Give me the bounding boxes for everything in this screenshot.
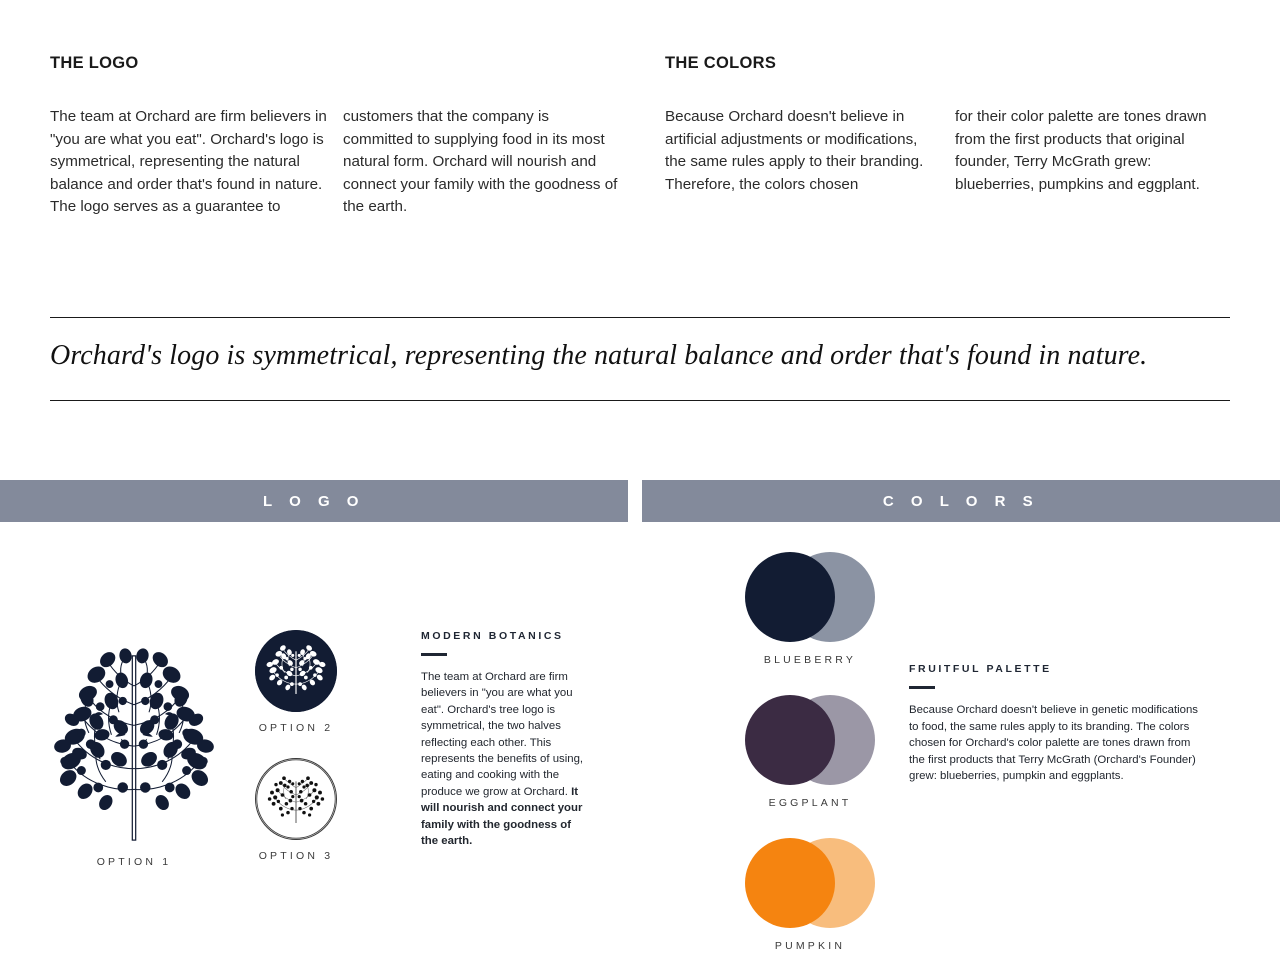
fruitful-palette-block: FRUITFUL PALETTE Because Orchard doesn't…: [909, 663, 1201, 785]
tree-logo-filled-badge-icon: [255, 630, 337, 712]
logo-option-3-label: OPTION 3: [255, 850, 337, 862]
colors-section-heading: THE COLORS: [665, 54, 776, 73]
logo-band-header: L O G O: [0, 480, 628, 522]
blueberry-label: BLUEBERRY: [710, 654, 910, 666]
colors-intro-paragraph-2: for their color palette are tones drawn …: [955, 106, 1217, 196]
logo-intro-paragraph-1: The team at Orchard are firm believers i…: [50, 106, 330, 219]
modern-botanics-rule: [421, 653, 447, 656]
logo-option-3[interactable]: OPTION 3: [255, 758, 337, 862]
tree-logo-outline-badge-icon: [255, 758, 337, 840]
logo-option-1[interactable]: OPTION 1: [40, 622, 228, 868]
logo-intro-paragraph-2: customers that the company is committed …: [343, 106, 623, 219]
eggplant-main-disc: [745, 695, 835, 785]
colors-showcase: BLUEBERRY EGGPLANT PUMPKIN FRUITFUL PALE…: [642, 522, 1280, 960]
pumpkin-discs: [745, 838, 875, 928]
logo-option-2[interactable]: OPTION 2: [255, 630, 337, 734]
modern-botanics-block: MODERN BOTANICS The team at Orchard are …: [421, 630, 591, 849]
eggplant-label: EGGPLANT: [710, 797, 910, 809]
modern-botanics-body-normal: The team at Orchard are firm believers i…: [421, 671, 583, 798]
pull-quote: Orchard's logo is symmetrical, represent…: [50, 338, 1230, 374]
intro-section: THE LOGO THE COLORS The team at Orchard …: [0, 0, 1280, 300]
modern-botanics-body: The team at Orchard are firm believers i…: [421, 669, 591, 849]
color-swatch-pumpkin[interactable]: PUMPKIN: [710, 838, 910, 952]
brand-style-guide-page: THE LOGO THE COLORS The team at Orchard …: [0, 0, 1280, 960]
blueberry-discs: [745, 552, 875, 642]
pumpkin-label: PUMPKIN: [710, 940, 910, 952]
eggplant-discs: [745, 695, 875, 785]
pull-quote-top-rule: [50, 317, 1230, 318]
color-swatch-blueberry[interactable]: BLUEBERRY: [710, 552, 910, 666]
pull-quote-bottom-rule: [50, 400, 1230, 401]
fruitful-palette-body: Because Orchard doesn't believe in genet…: [909, 702, 1201, 785]
logo-section-heading: THE LOGO: [50, 54, 139, 73]
logo-option-2-label: OPTION 2: [255, 722, 337, 734]
colors-band-header: C O L O R S: [642, 480, 1280, 522]
color-swatch-eggplant[interactable]: EGGPLANT: [710, 695, 910, 809]
tree-logo-icon: [40, 622, 228, 842]
logo-option-1-label: OPTION 1: [40, 856, 228, 868]
blueberry-main-disc: [745, 552, 835, 642]
modern-botanics-kicker: MODERN BOTANICS: [421, 630, 591, 642]
colors-intro-paragraph-1: Because Orchard doesn't believe in artif…: [665, 106, 927, 196]
fruitful-palette-rule: [909, 686, 935, 689]
pumpkin-main-disc: [745, 838, 835, 928]
fruitful-palette-kicker: FRUITFUL PALETTE: [909, 663, 1201, 675]
color-swatch-list: BLUEBERRY EGGPLANT PUMPKIN: [710, 552, 910, 960]
